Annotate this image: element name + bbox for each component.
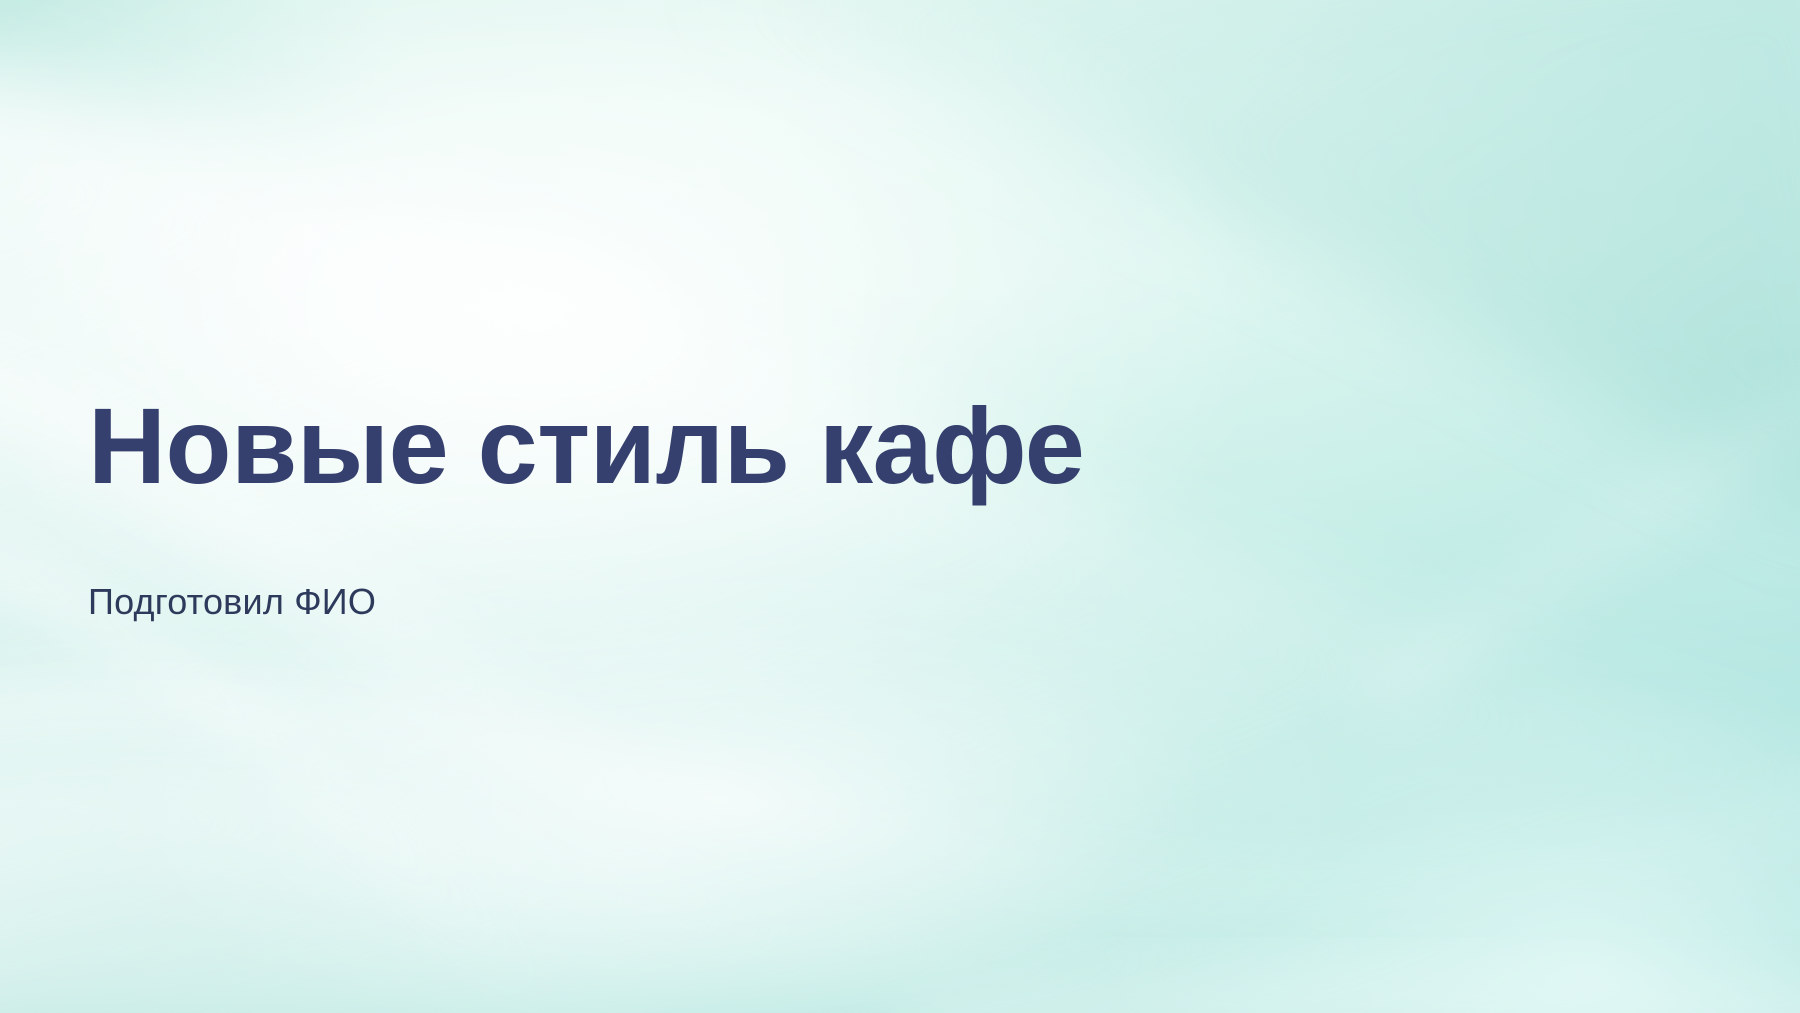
slide-text-block: Новые стиль кафе Подготовил ФИО: [88, 0, 1588, 1013]
slide-subtitle-author: Подготовил ФИО: [88, 502, 1588, 623]
slide-title: Новые стиль кафе: [88, 390, 1588, 502]
title-slide: Новые стиль кафе Подготовил ФИО: [0, 0, 1800, 1013]
